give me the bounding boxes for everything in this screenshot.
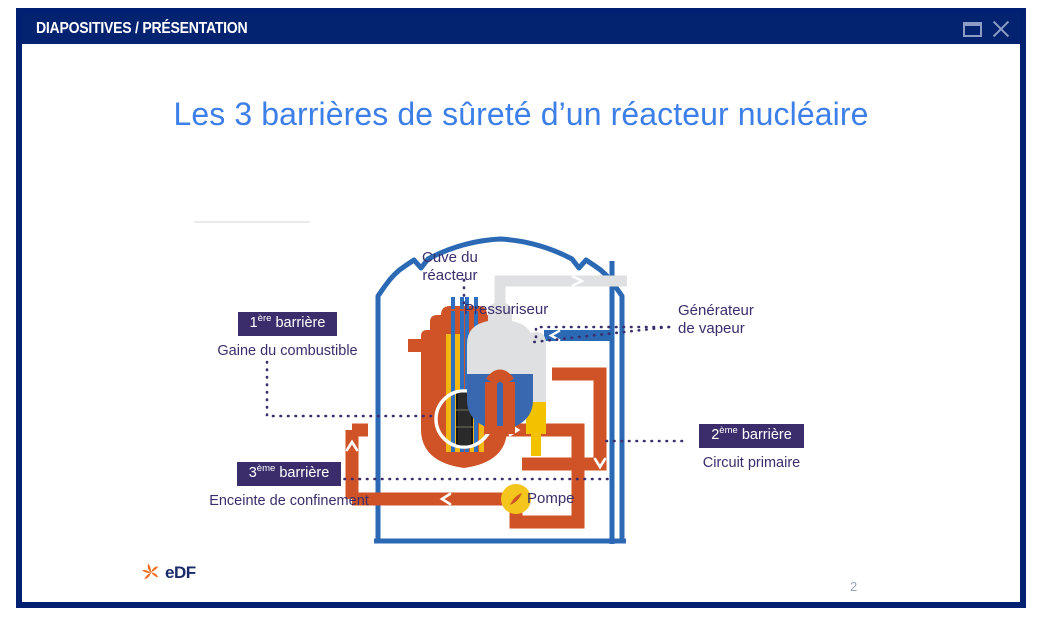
window-controls xyxy=(963,20,1010,39)
restore-window-icon[interactable] xyxy=(963,22,982,37)
close-window-icon[interactable] xyxy=(991,20,1010,39)
barrier-1-ordinal: ère xyxy=(258,313,272,324)
pressurizer-surge-line xyxy=(531,430,541,456)
presentation-window: DIAPOSITIVES / PRÉSENTATION Les 3 barriè… xyxy=(16,8,1026,608)
label-reactor-vessel: Cuve du réacteur xyxy=(422,249,478,284)
barrier-3-number: 3 xyxy=(249,465,257,481)
leader-barriere-1 xyxy=(267,362,436,416)
barrier-2-chip: 2ème barrière xyxy=(699,424,804,448)
label-pressurizer: Pressuriseur xyxy=(464,301,548,319)
window-title: DIAPOSITIVES / PRÉSENTATION xyxy=(36,20,247,38)
barrier-1-subtitle: Gaine du combustible xyxy=(200,343,375,359)
reactor-diagram xyxy=(22,44,1020,602)
barrier-3-word: barrière xyxy=(279,465,329,481)
barrier-3-subtitle: Enceinte de confinement xyxy=(194,493,384,509)
window-titlebar: DIAPOSITIVES / PRÉSENTATION xyxy=(22,14,1020,44)
edf-logo-text: eDF xyxy=(165,563,196,583)
edf-logo: eDF xyxy=(140,562,196,584)
barrier-1-number: 1 xyxy=(250,315,258,331)
slide-canvas: Les 3 barrières de sûreté d’un réacteur … xyxy=(22,44,1020,602)
label-reactor-vessel-line1: Cuve du xyxy=(422,249,478,267)
barrier-1-chip: 1ère barrière xyxy=(238,312,338,336)
barrier-2-ordinal: ème xyxy=(719,425,737,436)
label-steam-generator: Générateur de vapeur xyxy=(678,302,754,337)
label-steam-generator-line2: de vapeur xyxy=(678,320,754,338)
barrier-3-ordinal: ème xyxy=(257,463,275,474)
barrier-1-word: barrière xyxy=(275,315,325,331)
barrier-label-2: 2ème barrière Circuit primaire xyxy=(684,424,819,471)
barrier-label-3: 3ème barrière Enceinte de confinement xyxy=(194,462,384,509)
sg-u-tube-bend xyxy=(491,376,509,383)
edf-pinwheel-icon xyxy=(140,562,162,584)
label-pump: Pompe xyxy=(527,490,575,508)
feedwater-pipe xyxy=(544,330,614,341)
barrier-3-chip: 3ème barrière xyxy=(237,462,342,486)
label-steam-generator-line1: Générateur xyxy=(678,302,754,320)
sg-lower-water-section xyxy=(467,374,533,426)
barrier-2-word: barrière xyxy=(742,427,792,443)
barrier-label-1: 1ère barrière Gaine du combustible xyxy=(200,312,375,359)
slide-page-number: 2 xyxy=(850,579,857,594)
screenshot-root: DIAPOSITIVES / PRÉSENTATION Les 3 barriè… xyxy=(0,0,1042,631)
vessel-nozzle-left xyxy=(408,339,424,352)
barrier-2-subtitle: Circuit primaire xyxy=(684,455,819,471)
label-reactor-vessel-line2: réacteur xyxy=(422,267,478,285)
